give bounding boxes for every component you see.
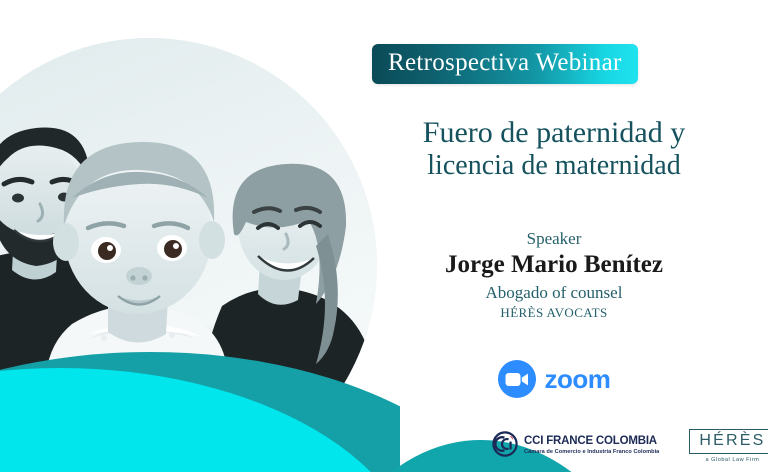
page-title: Fuero de paternidad y licencia de matern…	[340, 116, 768, 181]
video-camera-icon	[498, 360, 536, 398]
cci-text-block: CCI FRANCE COLOMBIA Cámara de Comercio e…	[524, 436, 659, 456]
heres-wordmark: HÉRÈS	[699, 432, 765, 449]
webinar-promo-slide: Retrospectiva Webinar Fuero de paternida…	[0, 0, 768, 472]
zoom-logo: zoom	[340, 360, 768, 398]
heres-logo: HÉRÈS a Global Law Firm	[689, 429, 768, 463]
speaker-name: Jorge Mario Benítez	[340, 250, 768, 280]
footer-logo-row: CCI FRANCE COLOMBIA Cámara de Comercio e…	[492, 424, 768, 468]
webinar-ribbon-banner: Retrospectiva Webinar	[372, 44, 638, 84]
speaker-role: Abogado of counsel	[340, 282, 768, 303]
cci-name: CCI FRANCE COLOMBIA	[524, 436, 659, 448]
speaker-firm: HÉRÈS AVOCATS	[340, 305, 768, 321]
content-column: Retrospectiva Webinar Fuero de paternida…	[340, 0, 768, 472]
speaker-label: Speaker	[340, 228, 768, 249]
title-line-2: licencia de maternidad	[340, 150, 768, 181]
ribbon-label: Retrospectiva Webinar	[388, 50, 622, 76]
heres-tagline: a Global Law Firm	[705, 457, 759, 463]
cci-monogram-icon	[492, 431, 518, 462]
speaker-block: Speaker Jorge Mario Benítez Abogado of c…	[340, 228, 768, 321]
cci-france-colombia-logo: CCI FRANCE COLOMBIA Cámara de Comercio e…	[492, 431, 659, 462]
cci-subtitle: Cámara de Comercio e Industria Franco Co…	[524, 450, 659, 456]
heres-box: HÉRÈS	[689, 429, 768, 454]
zoom-wordmark: zoom	[545, 364, 611, 395]
title-line-1: Fuero de paternidad y	[340, 116, 768, 150]
